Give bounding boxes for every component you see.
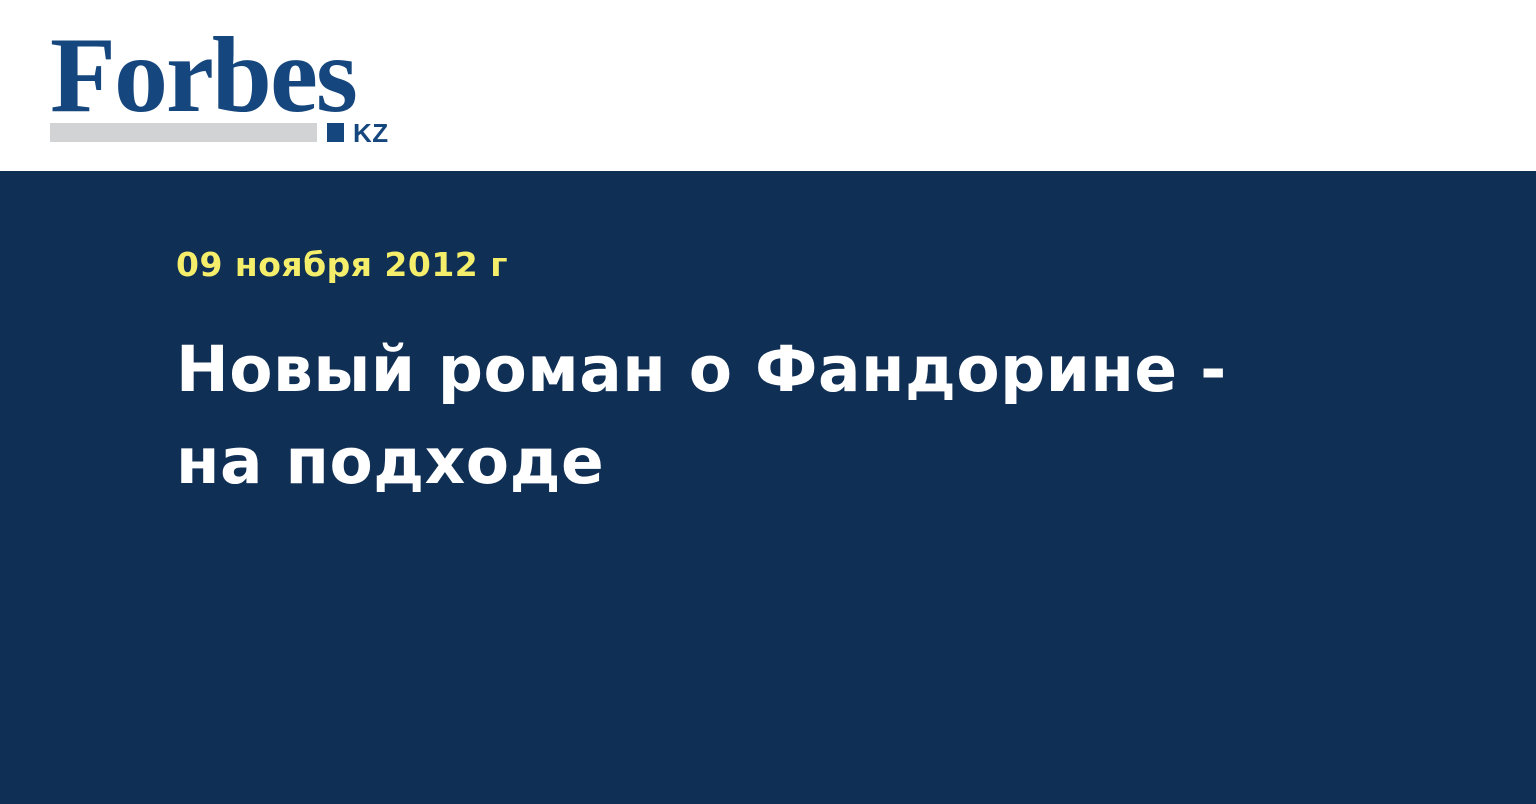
article-publish-date: 09 ноября 2012 г xyxy=(176,246,1356,284)
article-hero: 09 ноября 2012 г Новый роман о Фандорине… xyxy=(0,171,1536,804)
article-hero-content: 09 ноября 2012 г Новый роман о Фандорине… xyxy=(176,246,1356,508)
logo-gray-rule xyxy=(50,123,317,142)
article-headline: Новый роман о Фандорине - на подходе xyxy=(176,324,1286,508)
logo-kz-label: KZ xyxy=(353,120,389,146)
forbes-wordmark: Forbes xyxy=(50,22,356,130)
logo-blue-square-icon xyxy=(327,123,344,142)
article-page: Forbes KZ 09 ноября 2012 г Новый роман о… xyxy=(0,0,1536,804)
forbes-kz-logo[interactable]: Forbes KZ xyxy=(50,22,410,148)
site-header: Forbes KZ xyxy=(0,0,1536,171)
